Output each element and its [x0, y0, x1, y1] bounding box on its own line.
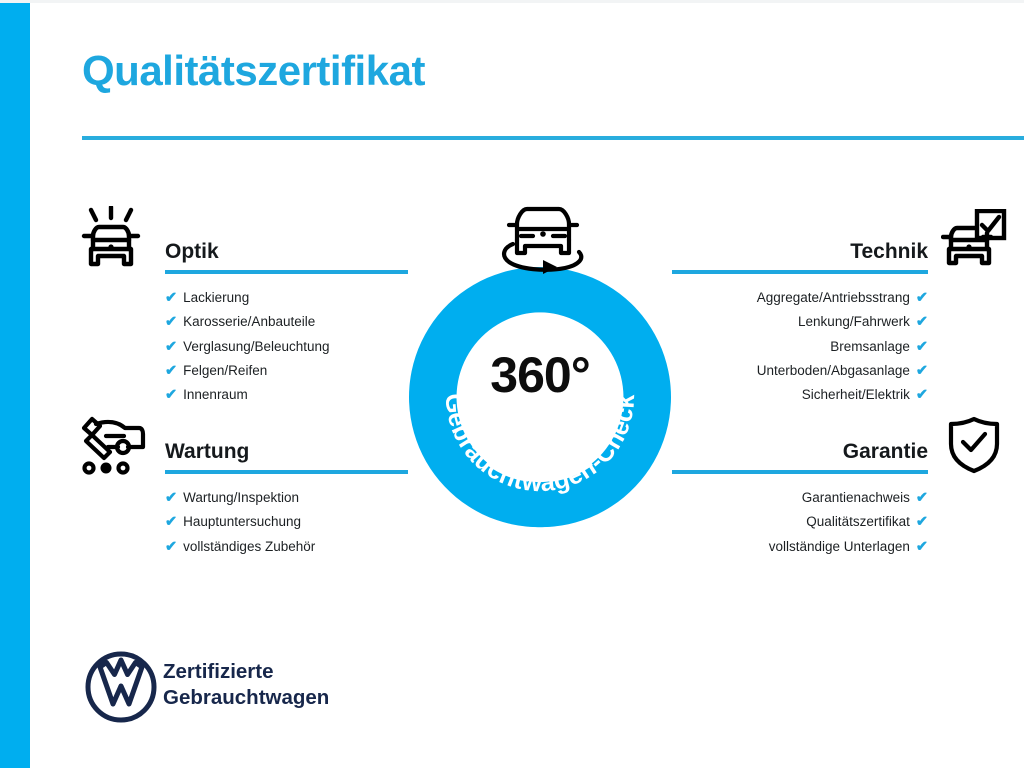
list-item: Aggregate/Antriebsstrang✔ [672, 286, 928, 310]
list-item-label: Aggregate/Antriebsstrang [757, 290, 910, 305]
list-item-label: Lenkung/Fahrwerk [798, 314, 910, 329]
list-item-label: Felgen/Reifen [183, 363, 267, 378]
badge-360-gebrauchtwagen-check: Gebrauchtwagen-Check 360° [405, 262, 675, 532]
section-title: Wartung [165, 440, 249, 464]
vw-wordmark-line2: Gebrauchtwagen [163, 685, 329, 711]
shield-check-icon [946, 416, 1002, 479]
check-icon: ✔ [916, 490, 928, 506]
check-icon: ✔ [916, 514, 928, 530]
check-icon: ✔ [165, 514, 177, 530]
car-checkbox-icon [941, 209, 1007, 276]
list-item-label: Sicherheit/Elektrik [802, 387, 910, 402]
badge-degrees-label: 360° [405, 346, 675, 404]
list-item-label: Hauptuntersuchung [183, 514, 301, 529]
section-title: Optik [165, 240, 219, 264]
check-icon: ✔ [165, 387, 177, 403]
list-item-label: Karosserie/Anbauteile [183, 314, 315, 329]
vw-logo [84, 650, 158, 724]
list-item: Qualitätszertifikat✔ [672, 510, 928, 534]
list-item-label: Bremsanlage [830, 339, 910, 354]
section-underline [165, 270, 408, 274]
list-item-label: Lackierung [183, 290, 249, 305]
check-icon: ✔ [916, 387, 928, 403]
check-icon: ✔ [916, 290, 928, 306]
check-icon: ✔ [916, 363, 928, 379]
list-item: Garantienachweis✔ [672, 486, 928, 510]
section-garantie: Garantie Garantienachweis✔ Qualitätszert… [672, 436, 928, 474]
list-item-label: vollständiges Zubehör [183, 539, 315, 554]
check-icon: ✔ [916, 539, 928, 555]
title-divider [82, 136, 1024, 140]
section-underline [165, 470, 408, 474]
section-technik-header: Technik [672, 236, 928, 274]
list-item-label: Qualitätszertifikat [806, 514, 910, 529]
list-item: ✔Karosserie/Anbauteile [165, 310, 330, 334]
section-title: Technik [850, 240, 928, 264]
list-item: Bremsanlage✔ [672, 335, 928, 359]
section-optik-header: Optik [165, 236, 408, 274]
list-item: ✔Innenraum [165, 383, 330, 407]
list-item-label: Wartung/Inspektion [183, 490, 299, 505]
section-technik: Technik Aggregate/Antriebsstrang✔ Lenkun… [672, 236, 928, 274]
section-wartung: Wartung ✔Wartung/Inspektion ✔Hauptunters… [165, 436, 408, 474]
section-garantie-list: Garantienachweis✔ Qualitätszertifikat✔ v… [672, 486, 928, 559]
section-garantie-header: Garantie [672, 436, 928, 474]
car-front-shine-icon [80, 206, 142, 277]
section-underline [672, 270, 928, 274]
list-item-label: Unterboden/Abgasanlage [757, 363, 910, 378]
section-optik: Optik ✔Lackierung ✔Karosserie/Anbauteile… [165, 236, 408, 274]
car-rotate-360-icon [493, 200, 593, 284]
check-icon: ✔ [165, 490, 177, 506]
check-icon: ✔ [165, 363, 177, 379]
list-item: ✔vollständiges Zubehör [165, 535, 315, 559]
check-icon: ✔ [165, 339, 177, 355]
list-item: vollständige Unterlagen✔ [672, 535, 928, 559]
list-item-label: Garantienachweis [802, 490, 910, 505]
section-technik-list: Aggregate/Antriebsstrang✔ Lenkung/Fahrwe… [672, 286, 928, 407]
section-wartung-list: ✔Wartung/Inspektion ✔Hauptuntersuchung ✔… [165, 486, 315, 559]
list-item: ✔Verglasung/Beleuchtung [165, 335, 330, 359]
list-item-label: Verglasung/Beleuchtung [183, 339, 329, 354]
list-item: ✔Felgen/Reifen [165, 359, 330, 383]
page-title: Qualitätszertifikat [82, 47, 425, 95]
section-underline [672, 470, 928, 474]
check-icon: ✔ [916, 314, 928, 330]
top-hairline [0, 0, 1024, 3]
list-item: ✔Lackierung [165, 286, 330, 310]
list-item-label: vollständige Unterlagen [769, 539, 910, 554]
list-item: Unterboden/Abgasanlage✔ [672, 359, 928, 383]
left-accent-bar [0, 3, 30, 768]
check-icon: ✔ [165, 290, 177, 306]
list-item-label: Innenraum [183, 387, 248, 402]
section-wartung-header: Wartung [165, 436, 408, 474]
list-item: Sicherheit/Elektrik✔ [672, 383, 928, 407]
list-item: ✔Hauptuntersuchung [165, 510, 315, 534]
vw-wordmark-line1: Zertifizierte [163, 659, 329, 685]
check-icon: ✔ [165, 314, 177, 330]
section-optik-list: ✔Lackierung ✔Karosserie/Anbauteile ✔Verg… [165, 286, 330, 407]
check-icon: ✔ [165, 539, 177, 555]
pencil-car-service-icon [78, 414, 146, 481]
list-item: ✔Wartung/Inspektion [165, 486, 315, 510]
section-title: Garantie [843, 440, 928, 464]
list-item: Lenkung/Fahrwerk✔ [672, 310, 928, 334]
vw-wordmark: Zertifizierte Gebrauchtwagen [163, 659, 329, 711]
check-icon: ✔ [916, 339, 928, 355]
